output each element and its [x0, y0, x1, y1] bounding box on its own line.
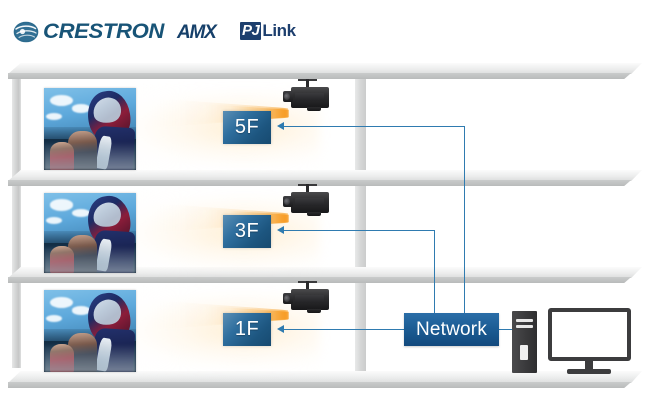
pc-tower-drive-slot-1	[516, 319, 533, 322]
pc-tower-drive-slot-2	[516, 325, 533, 328]
pc-tower	[512, 311, 537, 373]
projection-screen-3f	[44, 193, 136, 273]
column-center-lower	[355, 276, 366, 372]
floor-slab-ground	[8, 371, 642, 383]
network-link-1f-arrow	[277, 325, 284, 333]
network-link-3f-horizontal	[284, 230, 435, 231]
floor-slab-5f	[8, 170, 642, 181]
floor-label-1f-text: 1F	[235, 318, 259, 341]
column-center-upper	[355, 74, 366, 184]
floor-label-1f: 1F	[223, 313, 271, 346]
network-link-pc	[499, 329, 513, 330]
projection-screen-1f	[44, 290, 136, 372]
network-link-5f-vertical	[464, 126, 465, 313]
network-link-1f-horizontal	[284, 329, 405, 330]
network-node[interactable]: Network	[404, 313, 499, 346]
floor-slab-roof	[8, 63, 642, 74]
pc-monitor-base	[567, 369, 611, 374]
network-link-5f-horizontal	[284, 126, 465, 127]
network-link-3f-vertical	[434, 230, 435, 313]
projector-1f	[283, 281, 335, 315]
network-link-5f-arrow	[277, 122, 284, 130]
column-left-lower	[12, 276, 21, 368]
column-left-middle	[12, 180, 21, 278]
projection-screen-5f	[44, 88, 136, 170]
floor-label-3f-text: 3F	[235, 220, 259, 243]
floor-label-5f: 5F	[223, 111, 271, 144]
floor-label-3f: 3F	[223, 215, 271, 248]
pc-tower-port	[520, 345, 528, 360]
pc-monitor	[548, 308, 631, 361]
projector-5f	[283, 79, 335, 113]
column-left-upper	[12, 74, 21, 182]
network-link-3f-arrow	[277, 226, 284, 234]
diagram-canvas: CRESTRON AMX PJLink	[0, 0, 650, 407]
projector-3f	[283, 184, 335, 218]
network-node-label: Network	[416, 319, 487, 341]
floor-label-5f-text: 5F	[235, 116, 259, 139]
